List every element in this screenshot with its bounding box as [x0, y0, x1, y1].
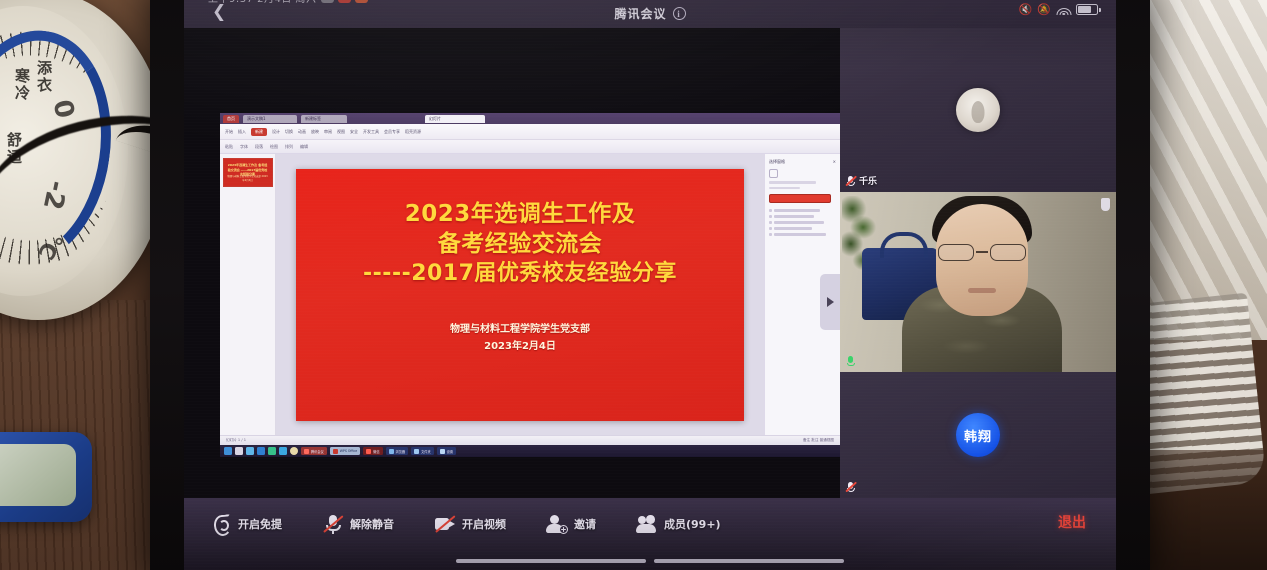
blue-device: [0, 432, 92, 522]
participant-video-feed: [840, 192, 1116, 372]
presentation-slide: 2023年选调生工作及 备考经验交流会 -----2017届优秀校友经验分享 物…: [296, 169, 744, 421]
mic-on-icon: [845, 355, 856, 367]
meeting-title-text: 腾讯会议: [614, 5, 666, 22]
avatar: 韩翔: [956, 413, 1000, 457]
home-indicator: [456, 559, 844, 563]
camera-off-icon: [434, 514, 456, 534]
pane-selected-item[interactable]: [769, 194, 831, 203]
status-slide-count: 幻灯片 1 / 1: [226, 438, 246, 443]
taskbar-app-wps[interactable]: WPS Office: [330, 447, 360, 455]
participant-tile-3[interactable]: 韩翔 韩翔: [840, 372, 1116, 498]
ribbon-new-chip[interactable]: 新建: [251, 128, 267, 136]
taskbar-app-label: 微信: [373, 449, 379, 454]
unmute-button[interactable]: 解除静音: [322, 514, 394, 534]
ribbon-tabs[interactable]: 开始 插入 新建 设计 切换 动画 放映 审阅 视图 安全 开发工具 会员专享 …: [220, 124, 840, 140]
mail-icon[interactable]: [257, 447, 265, 455]
invite-button-label: 邀请: [574, 516, 596, 532]
ribbon-tab-4[interactable]: 动画: [298, 129, 306, 135]
ribbon-tab-6[interactable]: 审阅: [324, 129, 332, 135]
home-bar-right: [654, 559, 844, 563]
taskview-icon[interactable]: [246, 447, 254, 455]
slide-thumbnail-panel[interactable]: 2023年选调生工作及 备考经验交流会 -----2017届优秀校友经验分享 物…: [220, 154, 276, 435]
ribbon-tab-2[interactable]: 设计: [272, 129, 280, 135]
taskbar-app-folder[interactable]: 文件夹: [411, 447, 434, 455]
slide-title-line-2: 备考经验交流会: [363, 229, 677, 259]
bullet-icon: [769, 227, 772, 230]
wps-tab-new[interactable]: 新建标签: [301, 115, 347, 123]
start-icon[interactable]: [224, 447, 232, 455]
ribbon-commands[interactable]: 粘贴 字体 段落 绘图 排列 编辑: [220, 140, 840, 154]
app-icon: [366, 449, 371, 454]
ribbon-tab-1[interactable]: 插入: [238, 129, 246, 135]
battery-icon: [1076, 4, 1098, 15]
tablet-screen: 上午9:37 2月4日 周六 ❮ 腾讯会议 i 🔇 🔕: [184, 0, 1116, 570]
store-icon[interactable]: [268, 447, 276, 455]
wps-tab-home[interactable]: 首页: [223, 115, 239, 123]
video-person-glasses: [936, 244, 1028, 261]
speaker-button[interactable]: 开启免提: [210, 514, 282, 534]
slide-stage: 2023年选调生工作及 备考经验交流会 -----2017届优秀校友经验分享 物…: [276, 154, 764, 435]
powerpoint-body: 2023年选调生工作及 备考经验交流会 -----2017届优秀校友经验分享 物…: [220, 154, 840, 435]
powerpoint-window[interactable]: 首页 演示文稿1 新建标签 幻灯片 开始 插入 新建 设计 切换 动画 放映 审…: [220, 113, 840, 457]
mic-muted-icon: [845, 481, 856, 493]
ribbon-tab-3[interactable]: 切换: [285, 129, 293, 135]
home-bar-left: [456, 559, 646, 563]
system-status-right: 🔇 🔕: [1019, 3, 1098, 16]
members-button-label: 成员(99+): [664, 516, 721, 532]
wifi-icon: [1056, 4, 1071, 15]
taskbar-app-tencent-meeting[interactable]: 腾讯会议: [301, 447, 327, 455]
wps-tab-doc1[interactable]: 演示文稿1: [243, 115, 297, 123]
edge-icon[interactable]: [279, 447, 287, 455]
ribbon-tab-11[interactable]: 稻壳资源: [405, 129, 421, 135]
slide-title: 2023年选调生工作及 备考经验交流会 -----2017届优秀校友经验分享: [363, 199, 677, 289]
speaker-icon: [210, 514, 232, 534]
chrome-icon[interactable]: [290, 447, 298, 455]
members-button[interactable]: 成员(99+): [636, 514, 721, 534]
taskbar-app-settings[interactable]: 设置: [437, 447, 456, 455]
exit-meeting-button[interactable]: 退出: [1058, 512, 1086, 532]
bullet-icon: [769, 221, 772, 224]
search-icon[interactable]: [235, 447, 243, 455]
invite-button[interactable]: 邀请: [546, 514, 596, 534]
dial-label-cold: 寒冷: [12, 68, 33, 102]
status-badge-2: [338, 0, 351, 3]
mic-muted-icon: [845, 175, 856, 187]
speaker-button-label: 开启免提: [238, 516, 282, 532]
windows-taskbar[interactable]: 腾讯会议 WPS Office 微信 浏览器 文件夹 设置: [220, 445, 840, 457]
pane-list-item[interactable]: [769, 209, 836, 212]
participant-name: 千乐: [859, 174, 877, 187]
participant-tile-2[interactable]: [840, 192, 1116, 372]
start-video-button-label: 开启视频: [462, 516, 506, 532]
status-badge-3: [355, 0, 368, 3]
shape-icon: [769, 169, 778, 178]
selection-pane-header: 选择窗格 ×: [769, 159, 836, 165]
pane-list-item[interactable]: [769, 227, 836, 230]
pane-list-item[interactable]: [769, 221, 836, 224]
ribbon-tab-5[interactable]: 放映: [311, 129, 319, 135]
powerpoint-status-bar: 幻灯片 1 / 1 备注 批注 普通视图: [220, 435, 840, 445]
meeting-title: 腾讯会议 i: [184, 5, 1116, 22]
meeting-controls-row: 开启免提 解除静音 开启视频: [184, 498, 1116, 550]
slide-title-line-1: 2023年选调生工作及: [363, 199, 677, 229]
taskbar-app-browser[interactable]: 浏览器: [386, 447, 409, 455]
slide-subtitle-line-2: 2023年2月4日: [450, 338, 590, 355]
taskbar-app-label: 设置: [447, 449, 453, 454]
status-badge-1: [321, 0, 334, 3]
chevron-right-icon: [827, 297, 834, 307]
pane-line-1: [769, 181, 816, 184]
ribbon-tab-9[interactable]: 开发工具: [363, 129, 379, 135]
taskbar-app-label: 浏览器: [396, 449, 406, 454]
slide-title-line-3: -----2017届优秀校友经验分享: [363, 259, 677, 289]
unmute-button-label: 解除静音: [350, 516, 394, 532]
ribbon-tab-0[interactable]: 开始: [225, 129, 233, 135]
app-icon: [414, 449, 419, 454]
screen-share-region[interactable]: 首页 演示文稿1 新建标签 幻灯片 开始 插入 新建 设计 切换 动画 放映 审…: [184, 28, 840, 498]
ribbon-cmd-2[interactable]: 段落: [255, 144, 263, 150]
status-view-controls[interactable]: 备注 批注 普通视图: [803, 438, 834, 443]
ribbon-cmd-5[interactable]: 编辑: [300, 144, 308, 150]
photo-scene: 寒冷 添衣 舒适 0 -2 °C 上午9:37 2月4日 周六 ❮ 腾讯会议: [0, 0, 1267, 570]
invite-person-icon: [546, 514, 568, 534]
slide-thumbnail-1[interactable]: 2023年选调生工作及 备考经验交流会 -----2017届优秀校友经验分享 物…: [223, 158, 273, 187]
app-icon: [333, 449, 338, 454]
bullet-icon: [769, 215, 772, 218]
avatar: [956, 88, 1000, 132]
ribbon-cmd-4[interactable]: 排列: [285, 144, 293, 150]
ribbon-tab-10[interactable]: 会员专享: [384, 129, 400, 135]
ribbon-tab-7[interactable]: 视图: [337, 129, 345, 135]
panel-collapse-handle[interactable]: [820, 274, 841, 330]
bell-off-icon: 🔕: [1037, 3, 1051, 16]
meeting-top-bar: 上午9:37 2月4日 周六 ❮ 腾讯会议 i 🔇 🔕: [184, 0, 1116, 28]
pin-icon[interactable]: [1101, 198, 1110, 211]
mic-muted-icon: [322, 514, 344, 534]
pane-list-item[interactable]: [769, 233, 836, 236]
video-person-mouth: [968, 288, 996, 293]
taskbar-app-label: WPS Office: [340, 449, 357, 453]
slide-subtitle-line-1: 物理与材料工程学院学生党支部: [450, 321, 590, 338]
dial-label-addclothes: 添衣: [34, 60, 55, 94]
taskbar-app-wechat[interactable]: 微信: [363, 447, 382, 455]
info-icon[interactable]: i: [673, 7, 686, 20]
start-video-button[interactable]: 开启视频: [434, 514, 506, 534]
taskbar-app-label: 腾讯会议: [311, 449, 324, 454]
app-icon: [389, 449, 394, 454]
app-icon: [440, 449, 445, 454]
pane-list-item[interactable]: [769, 215, 836, 218]
participant-name-tag: 韩翔: [845, 480, 877, 493]
participant-name-tag: 千乐: [845, 174, 877, 187]
slide-subtitle: 物理与材料工程学院学生党支部 2023年2月4日: [450, 321, 590, 355]
pane-line-2: [769, 187, 800, 190]
meeting-bottom-toolbar: 开启免提 解除静音 开启视频: [184, 498, 1116, 570]
participant-name-tag: [845, 355, 859, 367]
tablet-device: 上午9:37 2月4日 周六 ❮ 腾讯会议 i 🔇 🔕: [150, 0, 1150, 570]
wps-tab-strip[interactable]: 首页 演示文稿1 新建标签 幻灯片: [220, 113, 840, 124]
selection-pane-title: 选择窗格: [769, 159, 785, 165]
app-icon: [304, 449, 309, 454]
close-icon[interactable]: ×: [833, 159, 836, 165]
wps-tab-slides[interactable]: 幻灯片: [425, 115, 485, 123]
participant-video-column: 千乐: [840, 28, 1116, 498]
mute-icon: 🔇: [1019, 3, 1033, 16]
participant-tile-1[interactable]: 千乐: [840, 28, 1116, 192]
ribbon-tab-8[interactable]: 安全: [350, 129, 358, 135]
ribbon-cmd-1[interactable]: 字体: [240, 144, 248, 150]
ribbon-cmd-0[interactable]: 粘贴: [225, 144, 233, 150]
taskbar-app-label: 文件夹: [421, 449, 431, 454]
ribbon-cmd-3[interactable]: 绘图: [270, 144, 278, 150]
bullet-icon: [769, 233, 772, 236]
bullet-icon: [769, 209, 772, 212]
thumbnail-subtitle: 物理与材料工程学院学生党支部 2023年2月4日: [227, 175, 269, 182]
members-icon: [636, 514, 658, 534]
